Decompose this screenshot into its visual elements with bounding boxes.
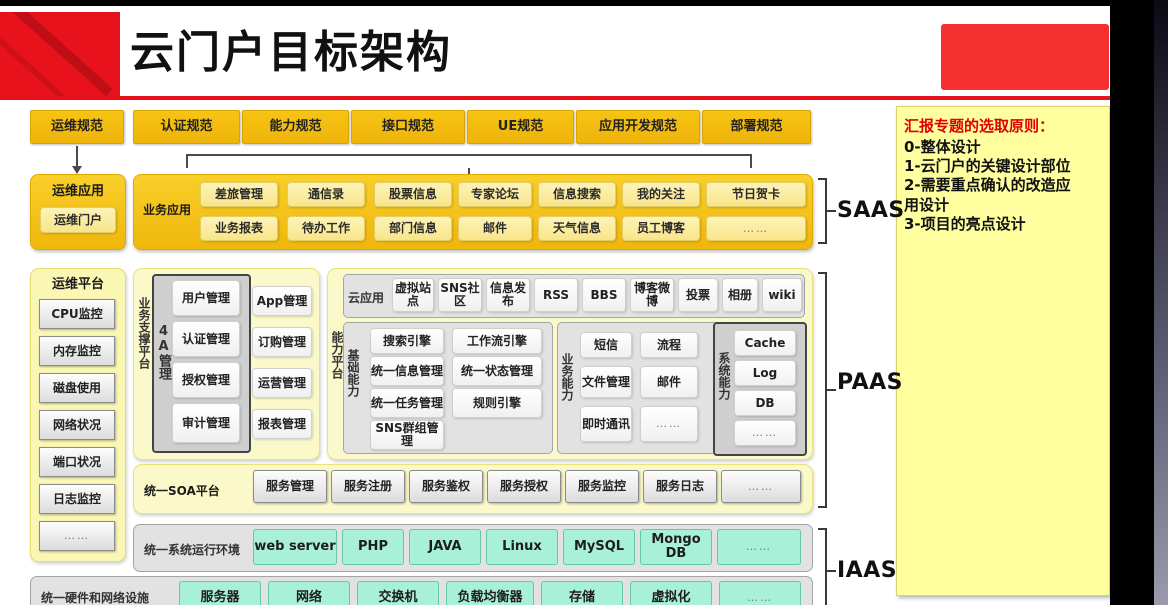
basic-capability-label: 基础能力: [347, 349, 359, 397]
saas-bracket-stem: [827, 210, 836, 212]
cloud-app-chip[interactable]: 信息发布: [486, 278, 530, 312]
fourA-label: 4A管理: [157, 324, 170, 380]
soa-chip[interactable]: 服务管理: [253, 470, 327, 503]
ops-item-port[interactable]: 端口状况: [39, 447, 115, 477]
infra-chip-more[interactable]: ……: [719, 581, 801, 605]
paas-bracket: [818, 272, 827, 508]
saas-chip[interactable]: 天气信息: [538, 216, 616, 241]
cloud-app-chip[interactable]: 博客微博: [630, 278, 674, 312]
page-title: 云门户目标架构: [130, 24, 452, 82]
cloud-app-chip[interactable]: 投票: [678, 278, 718, 312]
ops-item-more[interactable]: ……: [39, 521, 115, 551]
capability-platform-label: 能力平台: [331, 331, 343, 379]
cloud-app-chip[interactable]: 相册: [722, 278, 758, 312]
infra-chip[interactable]: 网络: [268, 581, 350, 605]
infra-chip[interactable]: 虚拟化: [630, 581, 712, 605]
biz-cap-chip-more[interactable]: ……: [640, 406, 698, 442]
note-line: 用设计: [904, 196, 1102, 215]
basic-cap-chip[interactable]: SNS群组管理: [370, 420, 444, 450]
note-line: 3-项目的亮点设计: [904, 215, 1102, 234]
runtime-chip[interactable]: JAVA: [409, 529, 481, 565]
ops-platform-title: 运维平台: [31, 269, 125, 292]
saas-chip[interactable]: 业务报表: [200, 216, 278, 241]
sys-cap-chip[interactable]: Log: [734, 360, 796, 386]
saas-chip[interactable]: 专家论坛: [458, 182, 532, 207]
biz-support-item-order[interactable]: 订购管理: [252, 327, 312, 357]
saas-chip[interactable]: 部门信息: [374, 216, 452, 241]
iaas-bracket-stem: [827, 570, 836, 572]
infra-chip[interactable]: 交换机: [357, 581, 439, 605]
standard-box-appdev[interactable]: 应用开发规范: [576, 110, 700, 144]
saas-bracket: [818, 178, 827, 244]
biz-cap-chip[interactable]: 流程: [640, 332, 698, 358]
saas-chip[interactable]: 信息搜索: [538, 182, 616, 207]
paas-bracket-stem: [827, 389, 836, 391]
standard-box-interface[interactable]: 接口规范: [351, 110, 465, 144]
saas-chip[interactable]: 待办工作: [287, 216, 365, 241]
soa-chip-more[interactable]: ……: [721, 470, 801, 503]
runtime-chip[interactable]: MySQL: [563, 529, 635, 565]
ops-arrow-head-icon: [72, 166, 82, 174]
biz-cap-chip[interactable]: 文件管理: [580, 366, 632, 398]
basic-cap-chip[interactable]: 规则引擎: [452, 388, 542, 418]
cloud-app-chip[interactable]: RSS: [534, 278, 578, 312]
runtime-label: 统一系统运行环境: [144, 541, 240, 558]
basic-cap-chip[interactable]: 工作流引擎: [452, 328, 542, 354]
ops-app-title: 运维应用: [31, 175, 125, 199]
soa-chip[interactable]: 服务鉴权: [409, 470, 483, 503]
sys-cap-chip[interactable]: DB: [734, 390, 796, 416]
ops-item-disk[interactable]: 磁盘使用: [39, 373, 115, 403]
saas-chip[interactable]: 员工博客: [622, 216, 700, 241]
principles-note: 汇报专题的选取原则： 0-整体设计 1-云门户的关键设计部位 2-需要重点确认的…: [896, 106, 1110, 596]
sys-cap-chip[interactable]: Cache: [734, 330, 796, 356]
cloud-app-label: 云应用: [348, 289, 384, 306]
window-scrollbar[interactable]: [1154, 0, 1168, 605]
ops-item-log[interactable]: 日志监控: [39, 484, 115, 514]
ops-item-network[interactable]: 网络状况: [39, 410, 115, 440]
infra-label: 统一硬件和网络设施: [41, 589, 149, 605]
slide-canvas: 云门户目标架构 汇报专题的选取原则： 0-整体设计 1-云门户的关键设计部位 2…: [0, 6, 1110, 605]
runtime-chip[interactable]: PHP: [342, 529, 404, 565]
standard-box-ops[interactable]: 运维规范: [30, 110, 124, 144]
saas-chip[interactable]: 邮件: [458, 216, 532, 241]
saas-chip[interactable]: 节日贺卡: [706, 182, 806, 207]
saas-chip[interactable]: 我的关注: [622, 182, 700, 207]
iaas-bracket: [818, 528, 827, 605]
business-app-label: 业务应用: [143, 201, 191, 218]
basic-cap-chip[interactable]: 搜索引擎: [370, 328, 444, 354]
layer-label-saas: SAAS: [837, 198, 905, 223]
biz-cap-chip[interactable]: 短信: [580, 332, 632, 358]
saas-chip[interactable]: 差旅管理: [200, 182, 278, 207]
standards-group-bracket: [186, 154, 752, 168]
infra-chip[interactable]: 服务器: [179, 581, 261, 605]
ops-item-cpu[interactable]: CPU监控: [39, 299, 115, 329]
runtime-chip[interactable]: web server: [253, 529, 337, 565]
company-red-logo: [0, 12, 120, 96]
biz-support-item-report[interactable]: 报表管理: [252, 409, 312, 439]
red-placeholder-block: [941, 24, 1109, 90]
basic-cap-chip[interactable]: 统一信息管理: [370, 356, 444, 386]
runtime-chip[interactable]: Mongo DB: [640, 529, 712, 565]
fourA-item-user[interactable]: 用户管理: [172, 280, 240, 316]
logo-slash-secondary-icon: [0, 19, 99, 96]
saas-chip-more[interactable]: ……: [706, 216, 806, 241]
biz-support-item-operation[interactable]: 运营管理: [252, 368, 312, 398]
biz-support-item-app[interactable]: App管理: [252, 286, 312, 316]
standard-box-deploy[interactable]: 部署规范: [702, 110, 811, 144]
layer-label-iaas: IAAS: [837, 558, 897, 583]
basic-cap-chip[interactable]: 统一任务管理: [370, 388, 444, 418]
cloud-app-chip[interactable]: wiki: [762, 278, 802, 312]
soa-chip[interactable]: 服务日志: [643, 470, 717, 503]
note-line: 1-云门户的关键设计部位: [904, 157, 1102, 176]
runtime-chip-more[interactable]: ……: [717, 529, 801, 565]
infra-chip[interactable]: 存储: [541, 581, 623, 605]
infra-chip[interactable]: 负载均衡器: [446, 581, 534, 605]
runtime-chip[interactable]: Linux: [486, 529, 558, 565]
slide-header: 云门户目标架构: [0, 6, 1110, 96]
note-line: 0-整体设计: [904, 138, 1102, 157]
basic-cap-chip[interactable]: 统一状态管理: [452, 356, 542, 386]
cloud-app-chip[interactable]: 虚拟站点: [392, 278, 434, 312]
standard-box-auth[interactable]: 认证规范: [133, 110, 240, 144]
ops-portal-chip[interactable]: 运维门户: [40, 207, 116, 233]
soa-chip[interactable]: 服务授权: [487, 470, 561, 503]
soa-label: 统一SOA平台: [144, 482, 220, 499]
note-title: 汇报专题的选取原则：: [904, 115, 1102, 136]
ops-app-group: 运维应用 运维门户: [30, 174, 126, 250]
fourA-item-audit[interactable]: 审计管理: [172, 403, 240, 443]
header-divider: [0, 96, 1110, 100]
sys-cap-chip-more[interactable]: ……: [734, 420, 796, 446]
biz-cap-chip[interactable]: 即时通讯: [580, 406, 632, 442]
standard-box-ue[interactable]: UE规范: [467, 110, 574, 144]
layer-label-paas: PAAS: [837, 370, 903, 395]
business-capability-label: 业务能力: [561, 353, 573, 401]
biz-cap-chip[interactable]: 邮件: [640, 366, 698, 398]
ops-item-memory[interactable]: 内存监控: [39, 336, 115, 366]
fourA-item-authz[interactable]: 授权管理: [172, 362, 240, 398]
soa-chip[interactable]: 服务监控: [565, 470, 639, 503]
cloud-app-chip[interactable]: BBS: [582, 278, 626, 312]
fourA-item-auth[interactable]: 认证管理: [172, 321, 240, 357]
saas-chip[interactable]: 股票信息: [374, 182, 452, 207]
biz-support-label: 业务支撑平台: [138, 297, 150, 369]
note-line: 2-需要重点确认的改造应: [904, 176, 1102, 195]
soa-chip[interactable]: 服务注册: [331, 470, 405, 503]
cloud-app-chip[interactable]: SNS社区: [438, 278, 482, 312]
system-capability-label: 系统能力: [718, 352, 730, 400]
standard-box-capability[interactable]: 能力规范: [242, 110, 349, 144]
saas-chip[interactable]: 通信录: [287, 182, 365, 207]
ops-arrow-line: [76, 146, 78, 168]
